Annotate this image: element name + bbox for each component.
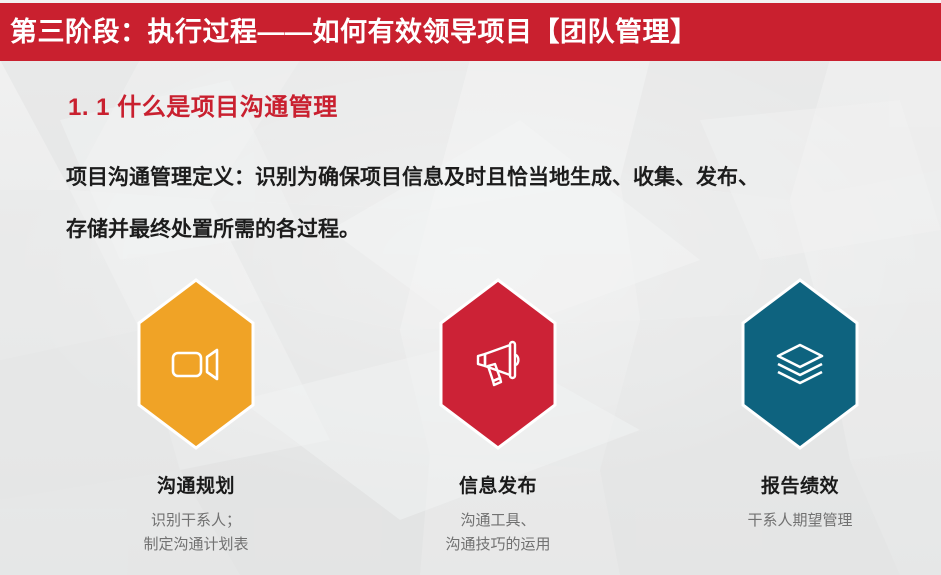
caption-subtitle: 识别干系人； 制定沟通计划表 (46, 509, 346, 557)
caption-subtitle-line: 干系人期望管理 (650, 509, 941, 533)
body-line-2: 存储并最终处置所需的各过程。 (66, 204, 941, 256)
caption-subtitle: 干系人期望管理 (650, 509, 941, 533)
megaphone-icon (439, 278, 557, 450)
body-paragraph: 项目沟通管理定义：识别为确保项目信息及时且恰当地生成、收集、发布、 存储并最终处… (66, 152, 941, 256)
slide-title-bar: 第三阶段：执行过程——如何有效领导项目【团队管理】 (0, 3, 941, 61)
hexagon-communication-planning[interactable] (137, 278, 255, 450)
body-line-1: 项目沟通管理定义：识别为确保项目信息及时且恰当地生成、收集、发布、 (66, 152, 941, 204)
hexagon-performance-reporting[interactable] (741, 278, 859, 450)
caption-title: 报告绩效 (650, 475, 941, 499)
hexagon-information-distribution[interactable] (439, 278, 557, 450)
hexagon-row (0, 278, 941, 453)
video-camera-icon (137, 278, 255, 450)
slide-title: 第三阶段：执行过程——如何有效领导项目【团队管理】 (0, 19, 698, 46)
caption-performance-reporting: 报告绩效 干系人期望管理 (650, 475, 941, 533)
caption-subtitle: 沟通工具、 沟通技巧的运用 (348, 509, 648, 557)
caption-title: 沟通规划 (46, 475, 346, 499)
caption-subtitle-line: 沟通技巧的运用 (348, 533, 648, 557)
caption-title: 信息发布 (348, 475, 648, 499)
presentation-slide: 第三阶段：执行过程——如何有效领导项目【团队管理】 1. 1 什么是项目沟通管理… (0, 0, 941, 575)
caption-information-distribution: 信息发布 沟通工具、 沟通技巧的运用 (348, 475, 648, 557)
caption-subtitle-line: 沟通工具、 (348, 509, 648, 533)
layers-icon (741, 278, 859, 450)
section-heading: 1. 1 什么是项目沟通管理 (68, 87, 338, 122)
caption-subtitle-line: 制定沟通计划表 (46, 533, 346, 557)
caption-subtitle-line: 识别干系人； (46, 509, 346, 533)
caption-communication-planning: 沟通规划 识别干系人； 制定沟通计划表 (46, 475, 346, 557)
